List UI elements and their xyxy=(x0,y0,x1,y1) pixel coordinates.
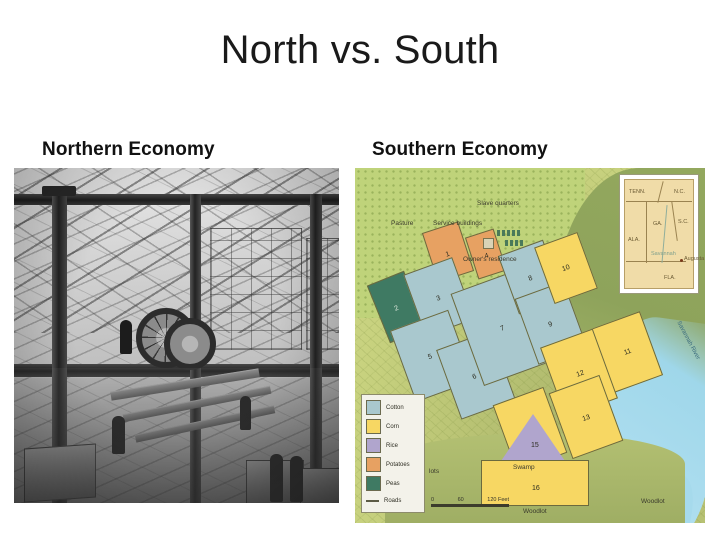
map-label-owners-residence: Owner's residence xyxy=(463,256,517,264)
southern-economy-heading: Southern Economy xyxy=(372,139,548,161)
inset-state-border xyxy=(626,261,686,262)
field-number: 3 xyxy=(435,295,441,303)
inset-locator-map: TENN. N.C. S.C. GA. ALA. FLA. Savannah A… xyxy=(619,174,699,294)
slave-quarter-block xyxy=(512,230,515,236)
image-vignette xyxy=(14,168,339,503)
legend-label-corn: Corn xyxy=(386,424,399,430)
legend-swatch-rice xyxy=(366,438,381,453)
inset-label-ga: GA. xyxy=(653,221,662,227)
inset-label-ala: ALA. xyxy=(628,237,640,243)
southern-economy-map: 1 2 3 4 5 6 7 8 9 10 11 xyxy=(355,168,705,523)
owner-residence-building xyxy=(483,238,494,249)
field-number: 11 xyxy=(623,348,632,357)
scale-bar-line xyxy=(431,504,509,507)
page-title: North vs. South xyxy=(0,28,720,72)
legend-item-corn: Corn xyxy=(366,419,420,434)
map-label-service-buildings: Service buildings xyxy=(433,220,482,228)
inset-label-nc: N.C. xyxy=(674,189,685,195)
northern-economy-image xyxy=(14,168,339,503)
inset-city-marker xyxy=(680,259,683,262)
legend-label-roads: Roads xyxy=(384,498,401,504)
legend-item-cotton: Cotton xyxy=(366,400,420,415)
inset-label-fla: FLA. xyxy=(664,275,676,281)
field-number: 10 xyxy=(561,264,571,273)
scale-tick-mid: 60 xyxy=(458,497,464,503)
map-label-pasture: Pasture xyxy=(391,220,413,228)
slave-quarter-block xyxy=(510,240,513,246)
scale-tick-max: 120 Feet xyxy=(487,497,509,503)
inset-state-border xyxy=(646,201,647,263)
field-number: 7 xyxy=(499,325,505,333)
scale-tick-zero: 0 xyxy=(431,497,434,503)
legend-swatch-potatoes xyxy=(366,457,381,472)
legend-label-rice: Rice xyxy=(386,443,398,449)
field-number: 8 xyxy=(527,275,533,283)
slave-quarter-block xyxy=(502,230,505,236)
map-label-woodlot-left: lots xyxy=(429,468,439,476)
slave-quarter-block xyxy=(517,230,520,236)
legend-swatch-cotton xyxy=(366,400,381,415)
legend-item-rice: Rice xyxy=(366,438,420,453)
field-number: 5 xyxy=(427,353,433,361)
slave-quarter-block xyxy=(497,230,500,236)
inset-label-river: Savannah xyxy=(651,251,676,257)
slave-quarter-block xyxy=(507,230,510,236)
legend-item-potatoes: Potatoes xyxy=(366,457,420,472)
field-number: 15 xyxy=(531,442,539,449)
legend-swatch-peas xyxy=(366,476,381,491)
inset-label-tenn: TENN. xyxy=(629,189,646,195)
inset-state-border xyxy=(626,201,692,202)
field-number: 16 xyxy=(532,485,540,492)
scale-tick-row: 0 60 120 Feet xyxy=(431,497,509,503)
legend-label-peas: Peas xyxy=(386,481,400,487)
map-scale-bar: 0 60 120 Feet xyxy=(431,497,509,507)
slave-quarter-block xyxy=(505,240,508,246)
legend-swatch-corn xyxy=(366,419,381,434)
map-label-woodlot-bottom: Woodlot xyxy=(523,508,547,516)
map-legend: Cotton Corn Rice Potatoes Peas Roads xyxy=(361,394,425,513)
legend-item-roads: Roads xyxy=(366,495,420,507)
slide-canvas: North vs. South Northern Economy xyxy=(0,0,720,539)
slave-quarter-block xyxy=(520,240,523,246)
field-number: 9 xyxy=(547,321,553,329)
legend-item-peas: Peas xyxy=(366,476,420,491)
legend-label-potatoes: Potatoes xyxy=(386,462,410,468)
slave-quarter-block xyxy=(515,240,518,246)
legend-swatch-roads xyxy=(366,500,379,502)
inset-label-sc: S.C. xyxy=(678,219,689,225)
northern-economy-heading: Northern Economy xyxy=(42,139,215,161)
legend-label-cotton: Cotton xyxy=(386,405,404,411)
field-number: 13 xyxy=(582,414,592,423)
field-number: 6 xyxy=(472,373,478,381)
inset-label-city: Augusta xyxy=(684,256,704,262)
field-number: 12 xyxy=(575,369,585,378)
map-label-woodlot-right: Woodlot xyxy=(641,498,665,506)
map-label-slave-quarters: Slave quarters xyxy=(477,200,519,208)
map-label-swamp: Swamp xyxy=(513,464,535,472)
field-number: 2 xyxy=(393,305,399,313)
